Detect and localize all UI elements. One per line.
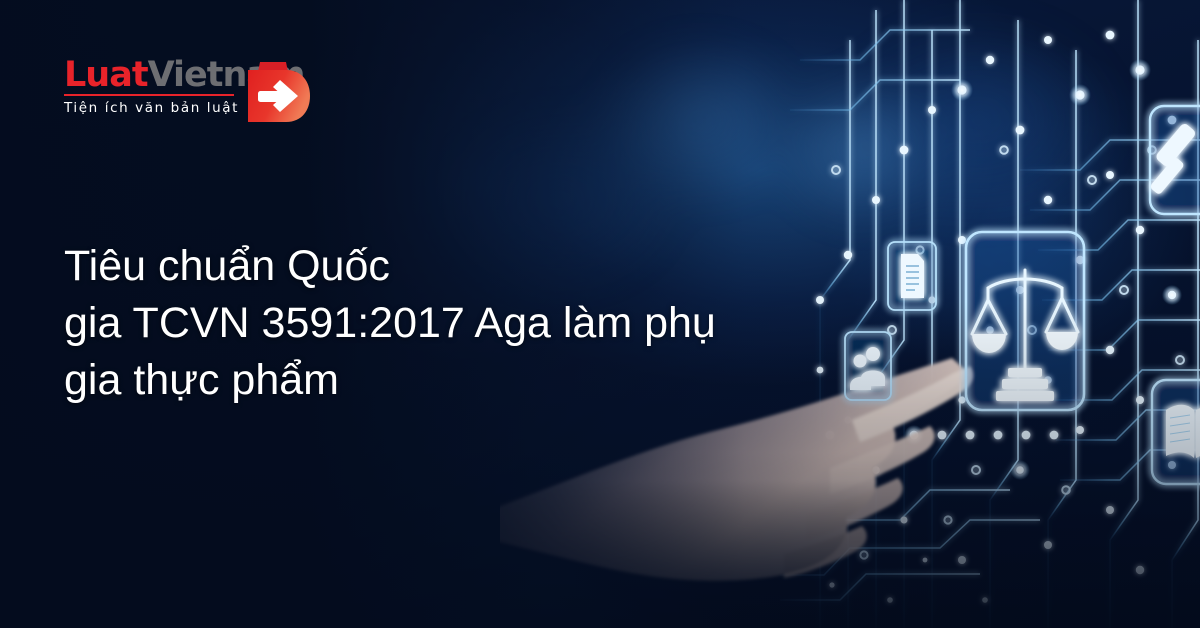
page-title-line-3: gia thực phẩm: [64, 352, 824, 409]
page-title-line-1: Tiêu chuẩn Quốc: [64, 238, 824, 295]
page-title: Tiêu chuẩn Quốc gia TCVN 3591:2017 Aga l…: [64, 238, 824, 409]
page-title-line-2: gia TCVN 3591:2017 Aga làm phụ: [64, 295, 824, 352]
luatvietnam-logo[interactable]: LuatVietnam Tiện ích văn bản luật: [64, 58, 314, 138]
folder-arrow-icon: [242, 54, 314, 130]
banner-canvas: LuatVietnam Tiện ích văn bản luật: [0, 0, 1200, 628]
logo-word-luat: Luat: [64, 55, 148, 95]
